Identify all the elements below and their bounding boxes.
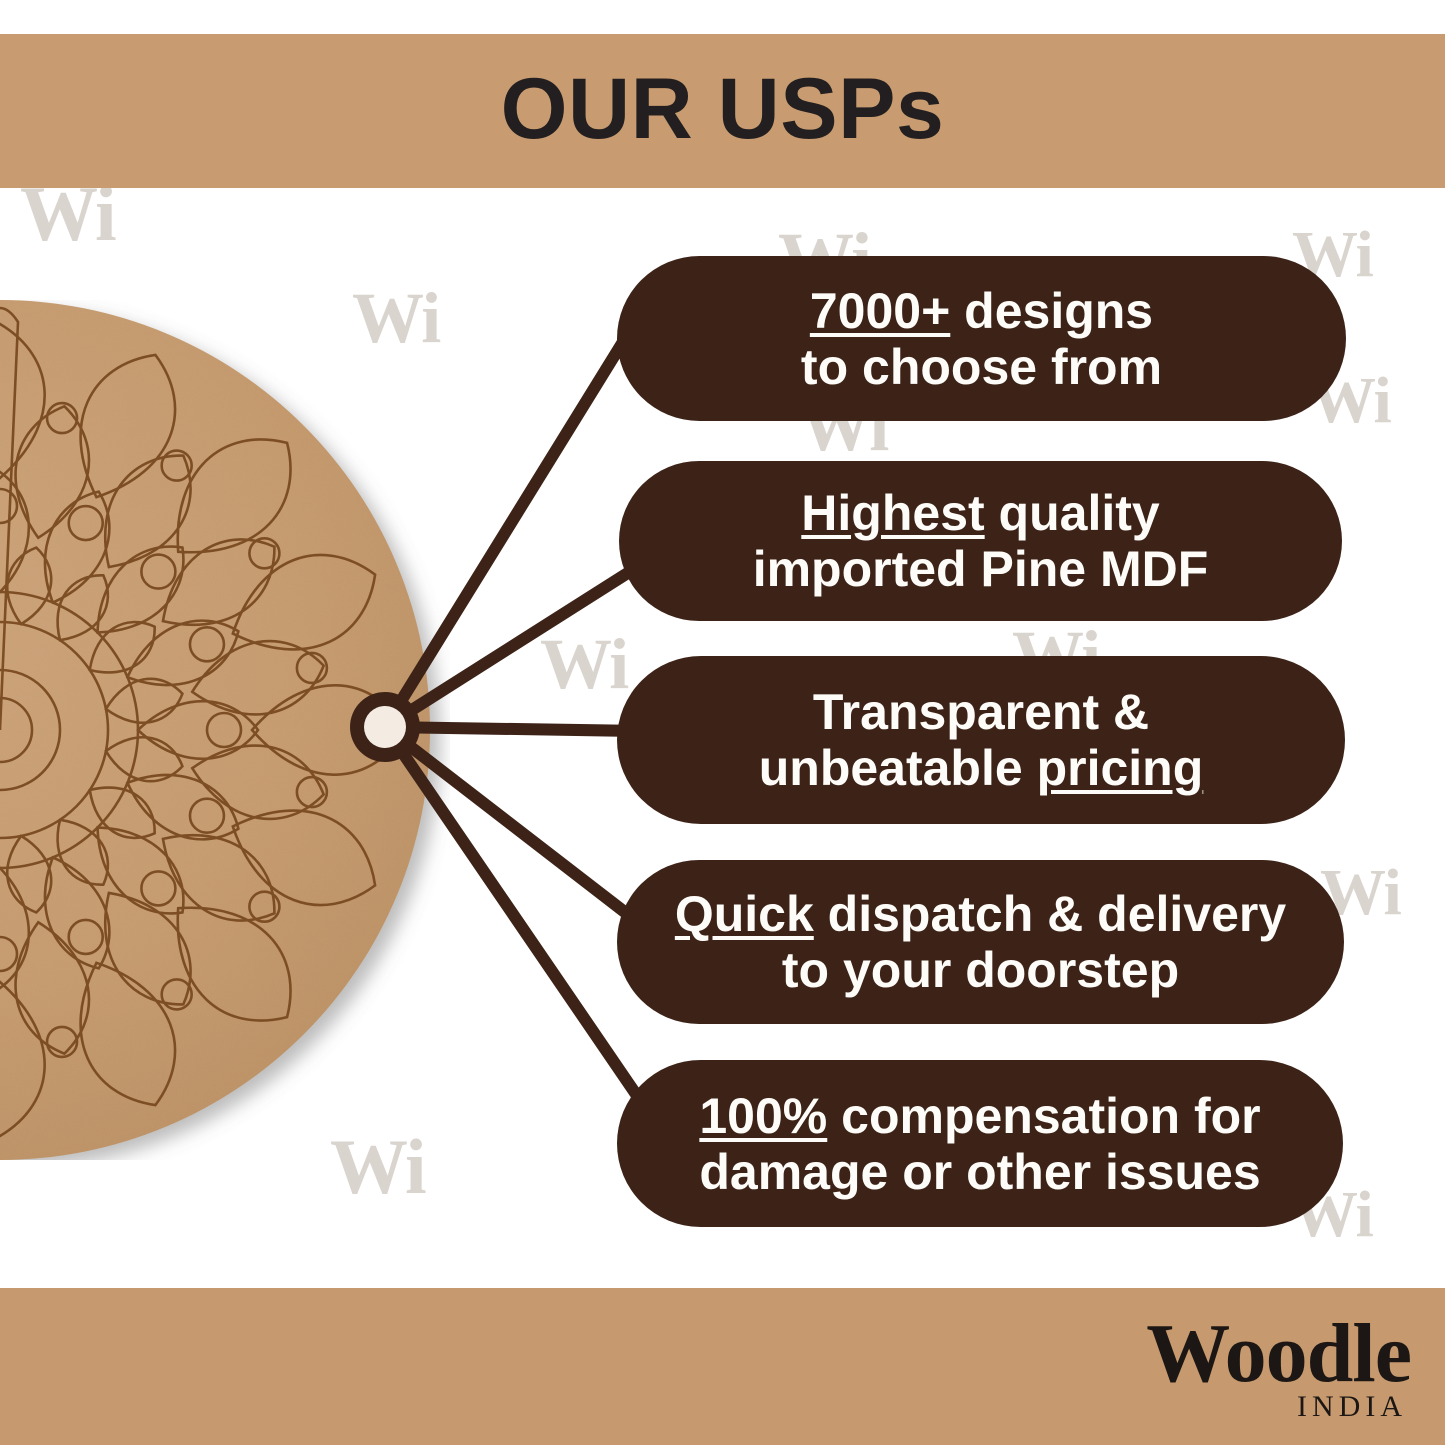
hub-node [350, 692, 420, 762]
usp-line2-4: damage or other issues [699, 1144, 1260, 1200]
usp-line1-2: Transparent & [759, 684, 1204, 740]
usp-text-material-quality: Highest quality imported Pine MDF [753, 485, 1209, 597]
usp-line1-rest-0: designs [950, 283, 1153, 339]
usp-text-dispatch-delivery: Quick dispatch & delivery to your doorst… [675, 886, 1286, 998]
usp-pill-designs-count[interactable]: 7000+ designs to choose from [617, 256, 1346, 421]
usp-line1-rest-4: compensation for [827, 1088, 1260, 1144]
usp-text-pricing: Transparent & unbeatable pricing [759, 684, 1204, 796]
page-title: OUR USPs [0, 60, 1445, 159]
usp-pill-compensation[interactable]: 100% compensation for damage or other is… [617, 1060, 1343, 1227]
usp-line2-3: to your doorstep [675, 942, 1286, 998]
usp-emphasis-0: 7000+ [810, 283, 950, 339]
connector-line-1 [385, 562, 645, 727]
hub-center [364, 706, 406, 748]
connector-line-0 [385, 290, 655, 727]
connector-line-3 [385, 727, 648, 930]
usp-line1-rest-1: quality [985, 485, 1160, 541]
usp-emphasis-4: 100% [699, 1088, 827, 1144]
infographic-canvas: WiWiWiWiWiWiWiWiWiWiWi [0, 0, 1445, 1445]
usp-line1-rest-3: dispatch & delivery [814, 886, 1286, 942]
usp-text-designs-count: 7000+ designs to choose from [801, 283, 1162, 395]
usp-text-compensation: 100% compensation for damage or other is… [699, 1088, 1260, 1200]
usp-pill-pricing[interactable]: Transparent & unbeatable pricing [617, 656, 1345, 824]
brand-logo: Woodle INDIA [1146, 1312, 1411, 1422]
usp-line2-1: imported Pine MDF [753, 541, 1209, 597]
usp-emphasis-1: Highest [801, 485, 984, 541]
connector-lines [385, 290, 655, 1122]
usp-emphasis-2: pricing [1037, 740, 1204, 796]
usp-pill-dispatch-delivery[interactable]: Quick dispatch & delivery to your doorst… [617, 860, 1344, 1024]
usp-line2-0: to choose from [801, 339, 1162, 395]
connector-line-4 [385, 727, 655, 1122]
usp-emphasis-3: Quick [675, 886, 814, 942]
usp-line2-pre-2: unbeatable [759, 740, 1037, 796]
logo-wordmark: Woodle [1146, 1312, 1411, 1396]
connector-line-2 [385, 727, 640, 731]
usp-pill-material-quality[interactable]: Highest quality imported Pine MDF [619, 461, 1342, 621]
